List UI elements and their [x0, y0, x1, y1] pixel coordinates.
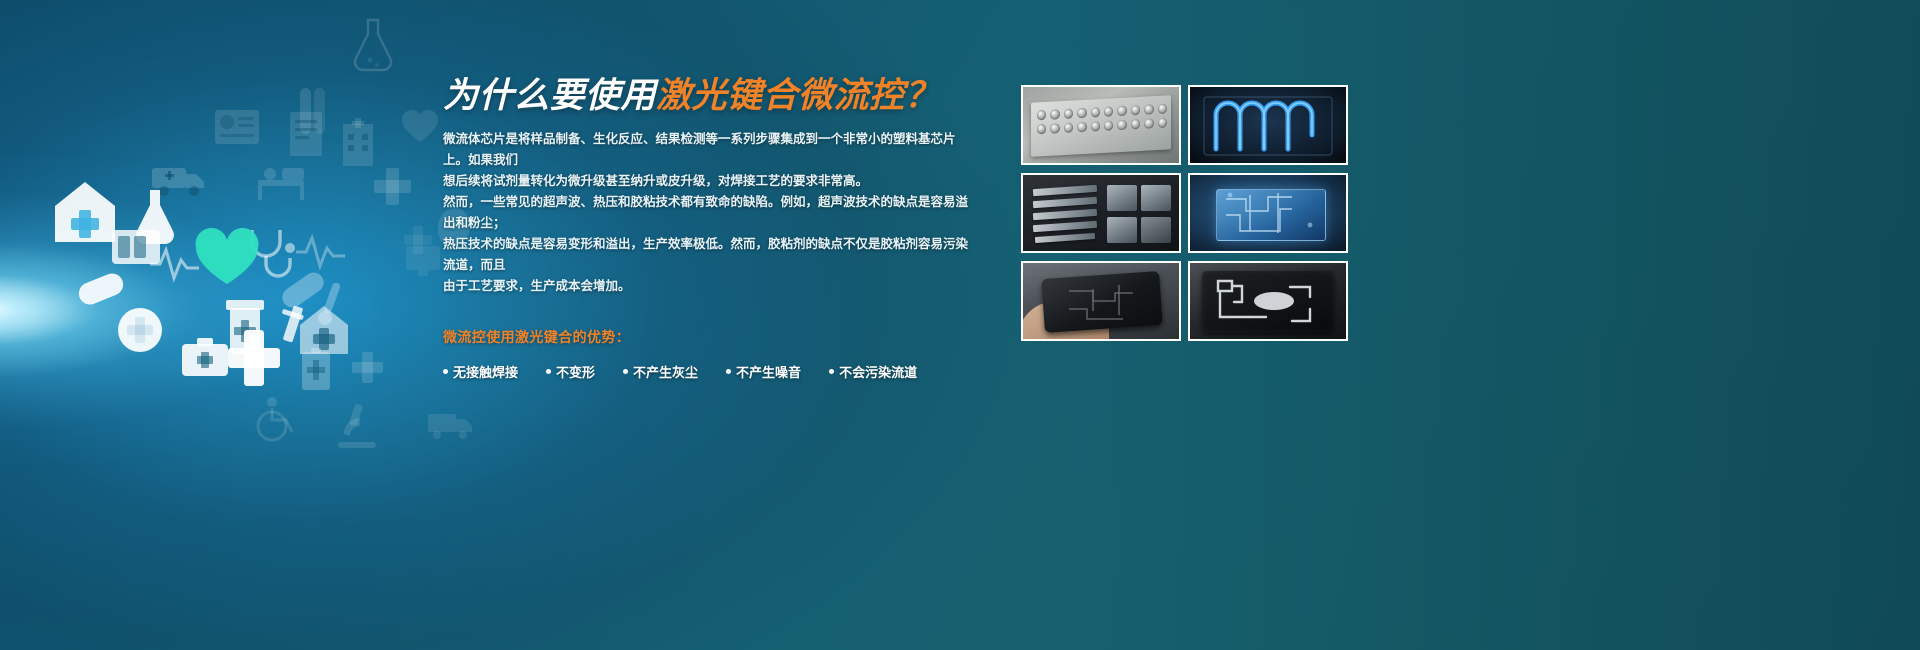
gallery-photo-well-strip-chip[interactable] — [1021, 85, 1181, 165]
promo-banner: 为什么要使用激光键合微流控？ 微流体芯片是将样品制备、生化反应、结果检测等一系列… — [0, 0, 1920, 650]
list-item: 不产生噪音 — [726, 362, 801, 381]
heart-ecg-icon — [402, 110, 438, 142]
product-gallery — [1021, 85, 1348, 341]
paragraph-line-4: 热压技术的缺点是容易变形和溢出，生产效率极低。然而，胶粘剂的缺点不仅是胶粘剂容易… — [443, 234, 973, 276]
advantages-list: 无接触焊接 不变形 不产生灰尘 不产生噪音 不会污染流道 — [443, 362, 973, 381]
cross-circle-icon — [118, 308, 162, 352]
background-glow-core — [0, 150, 420, 470]
advantages-heading: 微流控使用激光键合的优势： — [443, 327, 973, 347]
gallery-photo-blue-manifold[interactable] — [1188, 173, 1348, 253]
stethoscope-icon — [252, 230, 295, 276]
hospital-bed-icon — [258, 168, 304, 200]
monitor-icon-faint — [406, 246, 440, 276]
gallery-photo-hand-held-part[interactable] — [1021, 261, 1181, 341]
gallery-photo-serpentine-channel[interactable] — [1188, 85, 1348, 165]
battery-icon — [302, 348, 330, 390]
bullet-dot-icon — [546, 369, 551, 374]
capsule-icon — [76, 270, 127, 308]
gallery-photo-black-cartridge[interactable] — [1188, 261, 1348, 341]
list-item-label: 不产生灰尘 — [633, 362, 698, 381]
paragraph-line-5: 由于工艺要求，生产成本会增加。 — [443, 276, 973, 297]
hospital-building-icon — [343, 118, 373, 166]
document-icon — [290, 112, 322, 156]
clipboard-icon — [215, 110, 259, 144]
bullet-dot-icon — [829, 369, 834, 374]
clinic-house-icon — [55, 182, 115, 242]
flask-icon-bright — [136, 190, 174, 244]
heart-icon-bright — [195, 228, 258, 284]
background-glow-beam — [0, 215, 300, 405]
headline-accent-part: 激光键合微流控？ — [656, 76, 940, 115]
plus-icon-small — [352, 352, 383, 383]
flask-icon — [355, 20, 391, 70]
delivery-truck-icon — [428, 414, 472, 439]
microscope-icon — [338, 403, 376, 448]
page-title: 为什么要使用激光键合微流控？ — [443, 78, 973, 113]
pill-bottle-icon — [226, 300, 264, 354]
plus-icon-faint — [404, 226, 432, 254]
medicine-box-icon — [112, 230, 160, 264]
headline-white-part: 为什么要使用 — [443, 76, 656, 115]
paragraph-line-1: 微流体芯片是将样品制备、生化反应、结果检测等一系列步骤集成到一个非常小的塑料基芯… — [443, 129, 973, 171]
wheelchair-icon — [258, 397, 292, 440]
syringe-icon — [282, 305, 304, 342]
description-paragraph: 微流体芯片是将样品制备、生化反应、结果检测等一系列步骤集成到一个非常小的塑料基芯… — [443, 129, 973, 297]
thermometer-icon — [318, 282, 341, 325]
plus-icon-large — [374, 168, 411, 205]
ecg-line-icon — [150, 250, 199, 278]
ambulance-icon — [152, 168, 204, 196]
bandage-icon — [278, 269, 327, 312]
clinic-house-icon-2 — [300, 306, 348, 354]
list-item: 不产生灰尘 — [623, 362, 698, 381]
test-tube-icon — [300, 88, 325, 134]
text-content: 为什么要使用激光键合微流控？ 微流体芯片是将样品制备、生化反应、结果检测等一系列… — [443, 78, 973, 381]
list-item-label: 不变形 — [556, 362, 595, 381]
paragraph-line-2: 想后续将试剂量转化为微升级甚至纳升或皮升级，对焊接工艺的要求非常高。 — [443, 171, 973, 192]
bullet-dot-icon — [726, 369, 731, 374]
ecg-line-icon-right — [296, 238, 345, 266]
paragraph-line-3: 然而，一些常见的超声波、热压和胶粘技术都有致命的缺陷。例如，超声波技术的缺点是容… — [443, 192, 973, 234]
list-item-label: 无接触焊接 — [453, 362, 518, 381]
medical-cross-icon — [228, 330, 280, 386]
list-item: 无接触焊接 — [443, 362, 518, 381]
list-item: 不会污染流道 — [829, 362, 917, 381]
bullet-dot-icon — [443, 369, 448, 374]
first-aid-kit-icon — [182, 338, 228, 376]
gallery-photo-ribbed-strips[interactable] — [1021, 173, 1181, 253]
list-item: 不变形 — [546, 362, 595, 381]
list-item-label: 不会污染流道 — [839, 362, 917, 381]
list-item-label: 不产生噪音 — [736, 362, 801, 381]
bullet-dot-icon — [623, 369, 628, 374]
